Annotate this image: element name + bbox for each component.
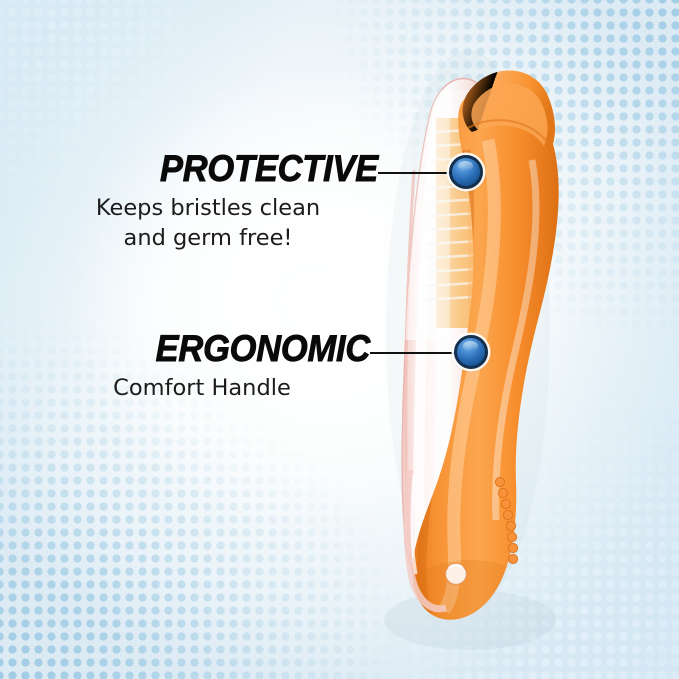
callout-ergonomic-title: ERGONOMIC [74, 330, 370, 367]
callout-ergonomic-subtitle: Comfort Handle [52, 374, 370, 404]
callout-ergonomic: ERGONOMIC Comfort Handle [52, 330, 370, 404]
callout-protective-subtitle: Keeps bristles clean and germ free! [60, 194, 378, 253]
product-infographic: PROTECTIVE Keeps bristles clean and germ… [0, 0, 679, 679]
blue-dot-marker-icon-ergonomic [454, 335, 488, 369]
blue-dot-marker-icon-protective [449, 155, 483, 189]
callout-protective: PROTECTIVE Keeps bristles clean and germ… [60, 150, 378, 253]
callout-protective-title: PROTECTIVE [82, 150, 378, 187]
